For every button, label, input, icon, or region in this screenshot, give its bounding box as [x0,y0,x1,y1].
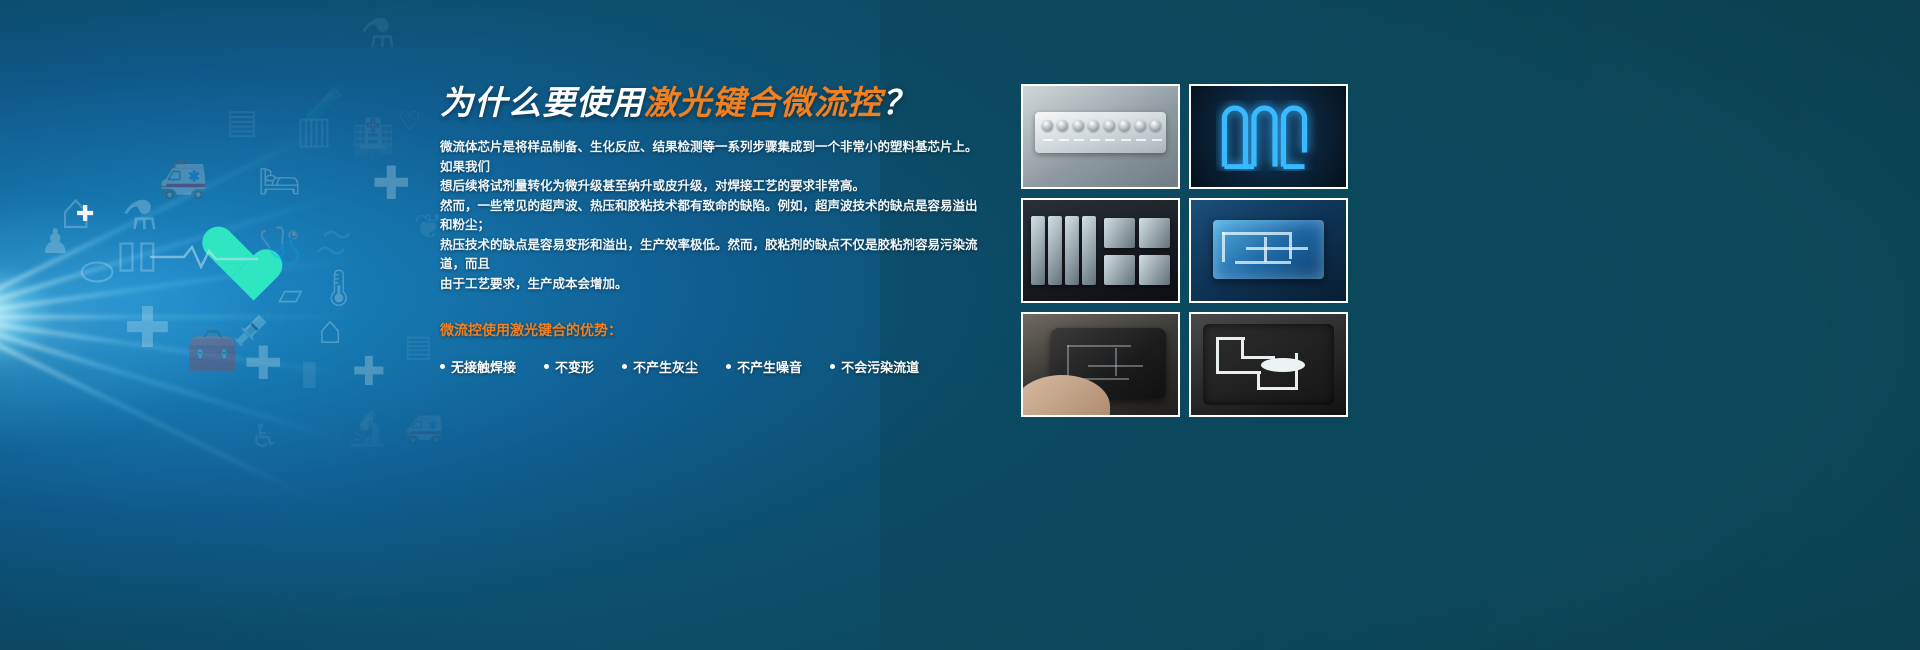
stethoscope-icon: 🩺 [258,228,303,264]
burst-ray [0,192,342,319]
bullet-dot-icon [440,364,445,369]
description-paragraph: 微流体芯片是将样品制备、生化反应、结果检测等一系列步骤集成到一个非常小的塑料基芯… [440,138,980,294]
flask-icon: ⚗ [122,196,158,236]
id-card-icon: ▤ [226,105,258,139]
photo-hand-holding-black-microfluidic-chip [1023,314,1178,415]
photo-blue-transparent-manifold-block [1191,200,1346,301]
gallery-item-serpentine-channel-chip[interactable] [1189,84,1348,189]
list-item-label: 不产生灰尘 [633,357,698,376]
ambulance-icon: 🚑 [158,158,208,198]
paragraph-line: 想后续将试剂量转化为微升级甚至纳升或皮升级，对焊接工艺的要求非常高。 [440,177,980,197]
syringe-icon: 💉 [232,312,274,346]
test-tube-icon: 🧪 [303,88,345,122]
home-cross-icon: ⌂ [60,185,91,237]
list-item-label: 不变形 [555,357,594,376]
bullet-dot-icon [622,364,627,369]
list-item-label: 无接触焊接 [451,357,516,376]
kidney-icon: ❦ [414,210,443,244]
bullet-dot-icon [830,364,835,369]
burst-glow [0,190,290,450]
paragraph-line: 由于工艺要求，生产成本会增加。 [440,275,980,295]
cross-icon: ✚ [244,340,283,386]
bullet-dot-icon [544,364,549,369]
burst-ray [0,315,342,442]
list-item-label: 不会污染流道 [841,357,919,376]
paragraph-line: 然而，一些常见的超声波、热压和胶粘技术都有致命的缺陷。例如，超声波技术的缺点是容… [440,197,980,236]
burst-ray [0,315,360,319]
hospital-icon: 🏥 [352,120,394,154]
gallery-item-hand-holding-chip[interactable] [1021,312,1180,417]
battery-icon: ▮ [300,356,319,390]
home-cross-icon: ⌂ [318,310,342,350]
cross-icon: ✚ [372,160,411,206]
burst-ray [0,131,318,319]
photo-black-chip-with-white-channel-pattern [1191,314,1346,415]
cross-icon: ✚ [124,300,171,356]
microscope-icon: 🔬 [346,412,388,446]
capsule-icon: ⬭ [80,252,114,292]
advantages-subtitle: 微流控使用激光键合的优势： [440,320,980,340]
gallery-item-black-chip-channel-pattern[interactable] [1189,312,1348,417]
photo-clear-microfluidic-chip-strip [1023,86,1178,187]
list-item: 不产生噪音 [726,357,802,376]
bandage-icon: ▱ [278,278,303,310]
ambulance-icon: 🚑 [404,410,444,442]
battery-icon: ▯▯ [116,236,158,274]
title-highlight: 激光键合微流控 [644,84,882,121]
burst-ray [0,315,356,377]
heart-icon [200,228,262,284]
thermometer-icon: 🌡 [316,270,362,306]
bullet-dot-icon [726,364,731,369]
wheelchair-icon: ♿ [250,420,279,452]
burst-ray [0,257,356,319]
banner-stage: ⚗ 🧪 ▤ ▥ 🏥 ♡ 🚑 🛏 ✚ ⌂ ✚ ⚗ ♟ ▯▯ ❦ 〜 🩺 ⬭ 〜 ▱… [0,0,1920,650]
first-aid-kit-icon: 🧰 [186,330,238,372]
burst-ray [0,315,318,503]
photo-transparent-chips-on-dark-tray [1023,200,1178,301]
ekg-line-icon: 〜 [322,222,352,252]
light-burst-effect [0,150,360,480]
banner-content: 为什么要使用激光键合微流控？ 微流体芯片是将样品制备、生化反应、结果检测等一系列… [440,80,980,376]
trophy-icon: ♟ [40,225,70,259]
list-item: 不变形 [544,357,594,376]
product-photo-grid [1021,84,1348,416]
cross-icon: ✚ [352,352,386,392]
cross-icon: ✚ [76,203,94,225]
book-icon: ▤ [404,332,432,362]
clipboard-icon: ▥ [296,112,332,150]
heart-outline-icon: ♡ [398,108,421,134]
paragraph-line: 热压技术的缺点是容易变形和溢出，生产效率极低。然而，胶粘剂的缺点不仅是胶粘剂容易… [440,236,980,275]
title-suffix: ？ [882,84,916,121]
gallery-item-chips-on-tray[interactable] [1021,198,1180,303]
page-title: 为什么要使用激光键合微流控？ [440,80,980,126]
photo-blue-illuminated-serpentine-channel-chip [1191,86,1346,187]
flask-icon: ⚗ [360,14,396,54]
list-item: 不会污染流道 [830,357,919,376]
gallery-item-manifold-block[interactable] [1189,198,1348,303]
list-item: 无接触焊接 [440,357,516,376]
list-item: 不产生灰尘 [622,357,698,376]
paragraph-line: 微流体芯片是将样品制备、生化反应、结果检测等一系列步骤集成到一个非常小的塑料基芯… [440,138,980,177]
burst-core [0,270,50,360]
ekg-line-icon [150,243,380,269]
bed-icon: 🛏 [258,165,301,199]
gallery-item-clear-chip-strip[interactable] [1021,84,1180,189]
advantages-list: 无接触焊接 不变形 不产生灰尘 不产生噪音 不会污染流道 [440,357,980,376]
list-item-label: 不产生噪音 [737,357,802,376]
ekg-line-icon: 〜 [316,238,346,268]
title-prefix: 为什么要使用 [440,84,644,121]
